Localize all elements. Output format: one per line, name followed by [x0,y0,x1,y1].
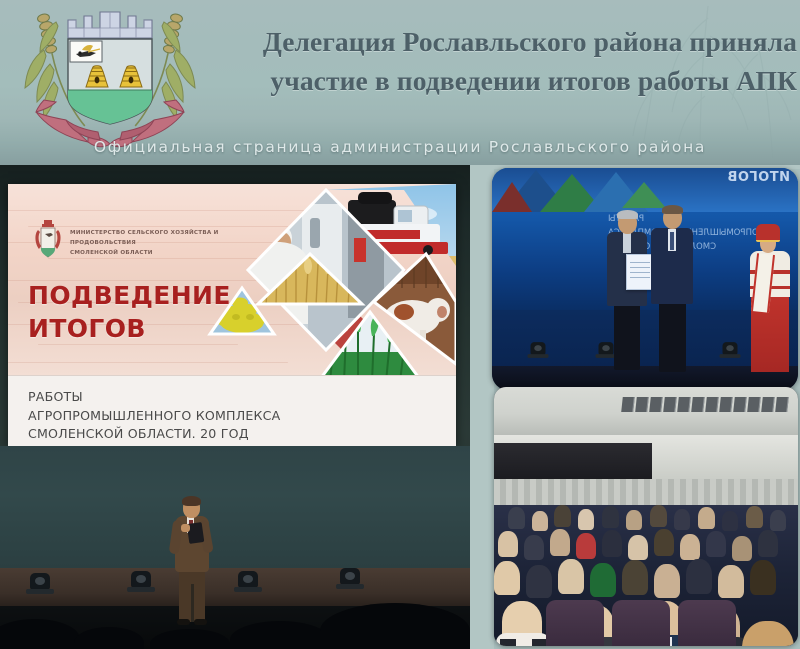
audience-member [674,509,690,530]
stage-light [238,571,258,588]
audience-member [680,534,700,560]
speaker-figure [169,498,215,628]
speaker-shoe [194,619,207,625]
audience-member [758,530,778,557]
stage-light [30,573,50,590]
audience-member [732,536,752,561]
speaker-leg-gap [191,584,194,622]
award-presenter [648,204,696,374]
slide-subtitle: РАБОТЫ АГРОПРОМЫШЛЕННОГО КОМПЛЕКСА СМОЛЕ… [28,388,280,444]
coat-of-arms-icon [10,2,210,150]
projected-slide: Министерство сельского хозяйства и продо… [8,184,456,446]
audience-silhouette [150,629,230,649]
darkened-auditorium [0,606,470,649]
presenter-tie [670,232,674,250]
audience-member [722,511,738,531]
audience-member [650,505,667,527]
audience-member [770,510,786,531]
speaker-hair [182,496,201,506]
audience-front-vest [500,639,516,646]
recipient-shirt [623,233,631,253]
page-title-line-2: участие в подведении итогов работы АПК [215,61,797,100]
audience-member [590,563,616,597]
audience-member [602,530,622,557]
photo-audience-hall [494,387,798,646]
audience-member [628,535,648,560]
slide-subtitle-line-3: СМОЛЕНСКОЙ ОБЛАСТИ. 20 ГОД [28,425,280,444]
ministry-emblem-icon [32,218,64,262]
presenter-hair [662,205,683,214]
theater-seat [678,600,736,646]
audience-member [750,560,776,595]
page-title: Делегация Рославльского района приняла у… [215,22,797,100]
audience-member [622,560,648,595]
slide-upper-panel: Министерство сельского хозяйства и продо… [8,184,456,376]
audience-member [550,529,570,556]
slide-subtitle-line-2: АГРОПРОМЫШЛЕННОГО КОМПЛЕКСА [28,407,280,426]
woman-in-traditional-costume [748,224,792,372]
audience-member [706,531,726,557]
panel-divider-vertical [470,165,494,649]
stage-light [531,342,546,355]
stage-light [723,342,738,355]
slide-subtitle-line-1: РАБОТЫ [28,388,280,407]
recipient-legs [614,302,640,370]
audience-member-front [742,621,794,646]
speaker-shoe [177,619,190,625]
audience-member [746,506,763,528]
audience-member [526,565,552,598]
agriculture-mosaic-graphic [198,184,456,376]
audience-silhouette [0,619,80,649]
award-recipient [604,210,650,374]
audience-member [626,510,642,530]
theater-seat [546,600,604,646]
recipient-hair [617,210,638,219]
audience-member [654,564,680,598]
audience-member [718,565,744,598]
audience-member [498,531,518,557]
slide-lower-panel: РАБОТЫ АГРОПРОМЫШЛЕННОГО КОМПЛЕКСА СМОЛЕ… [8,375,456,446]
audience-member [558,559,584,594]
mirrored-screen-title: ИТОГОВ [727,170,790,185]
post-header: Делегация Рославльского района приняла у… [0,0,800,165]
page-subtitle: Официальная страница администрации Росла… [0,138,800,156]
photo-collage: Министерство сельского хозяйства и продо… [0,165,800,649]
audience-member [576,533,596,559]
stage-light [340,568,360,585]
audience-member [532,511,548,531]
audience-member [578,509,594,530]
presenter-legs [659,300,686,372]
audience-member [602,506,619,528]
social-media-post-card: Делегация Рославльского района приняла у… [0,0,800,649]
stage-backdrop [0,446,470,568]
page-title-line-1: Делегация Рославльского района приняла [263,26,797,57]
kokoshnik-headdress [756,224,780,242]
audience-member [654,529,674,556]
audience-member [698,507,715,529]
audience-member [554,505,571,527]
audience-member [508,507,525,529]
photo-award-ceremony: ИТОГОВ РАБОТЫ АГРОПРОМЫШЛЕННОГО КОМПЛЕКС… [492,168,798,390]
balcony-railing [494,397,798,415]
photo-speaker-on-stage: Министерство сельского хозяйства и продо… [0,165,470,649]
audience-silhouette [320,603,470,649]
theater-seat [612,600,670,646]
audience-member [524,535,544,560]
speaker-hand [181,524,190,532]
stage-light [131,571,151,588]
seating-area [494,505,798,646]
audience-member [686,559,712,594]
audience-silhouette [230,621,330,649]
audience-silhouette [74,627,144,649]
audience-member [494,561,520,595]
